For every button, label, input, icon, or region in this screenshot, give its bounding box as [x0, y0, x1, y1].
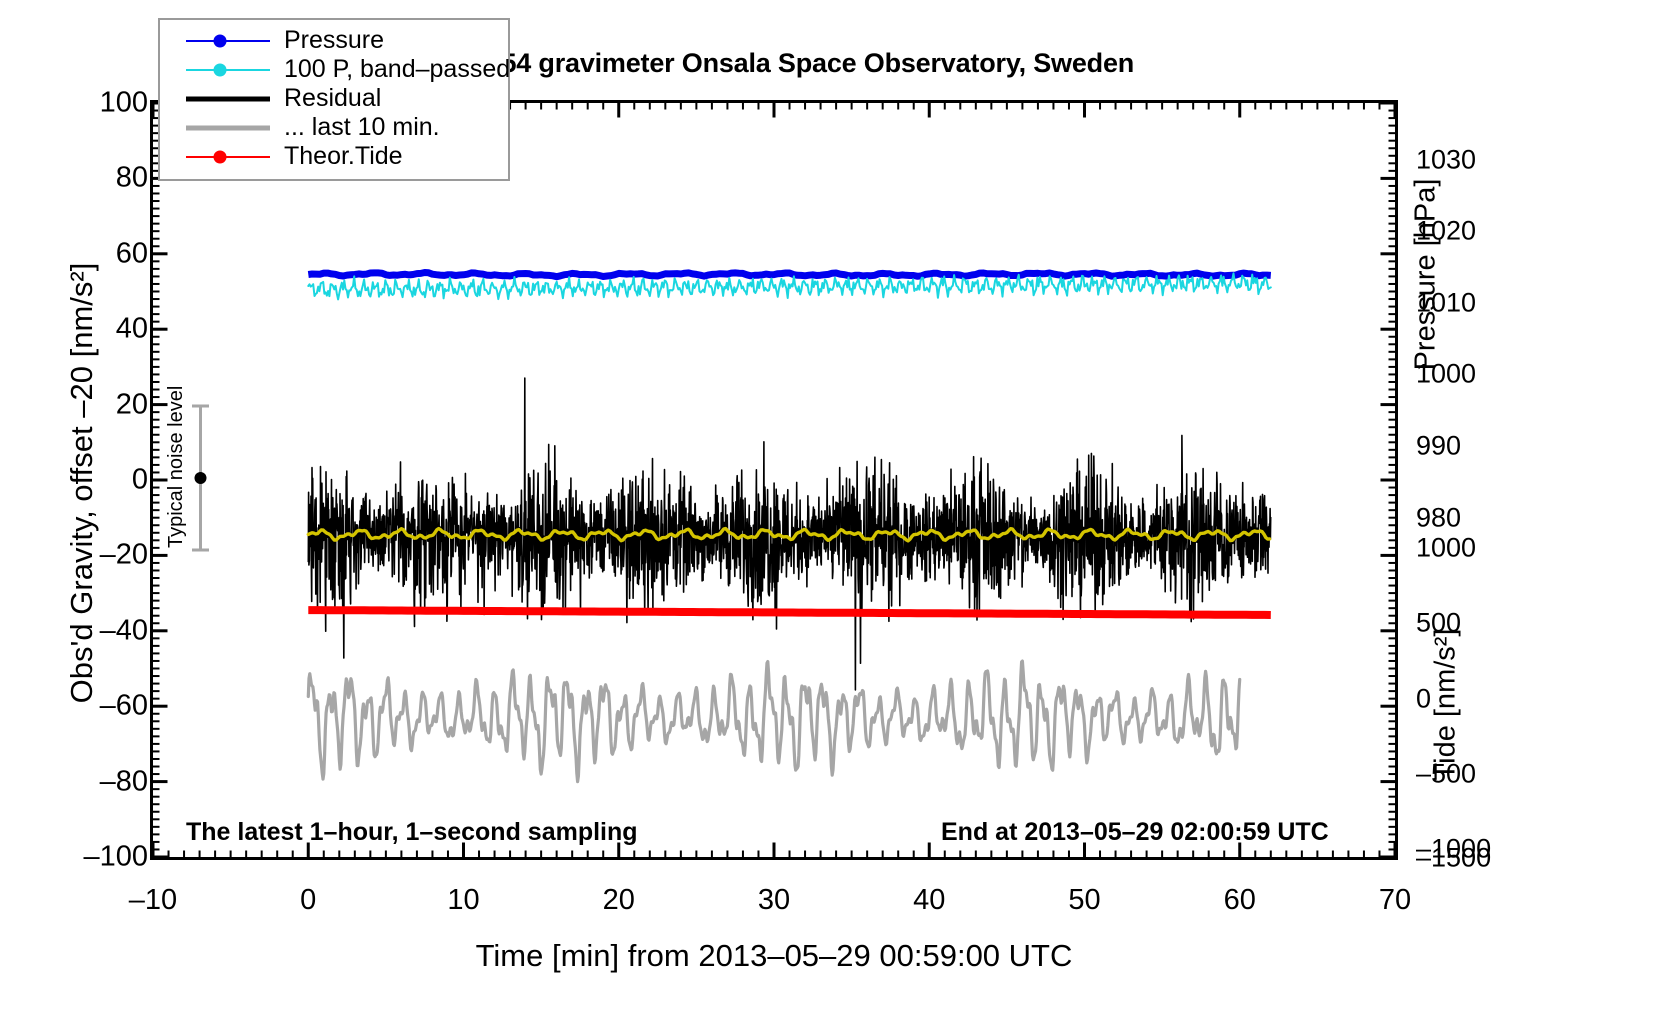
- noise-level-errorbar: [192, 404, 209, 552]
- legend-item-1[interactable]: 100 P, band–passed: [160, 55, 508, 84]
- tide-tick-label: 0: [1416, 683, 1431, 714]
- pressure-tick-label: 1020: [1416, 216, 1476, 247]
- chart-root: SCG_054 gravimeter Onsala Space Observat…: [0, 0, 1660, 1020]
- legend-label: Residual: [284, 84, 381, 113]
- x-tick-label: 20: [603, 884, 635, 917]
- x-tick-label: 40: [913, 884, 945, 917]
- legend-swatch-icon: [186, 60, 270, 80]
- y-tick-label: –20: [100, 539, 148, 572]
- plot-area: [150, 100, 1398, 860]
- y-tick-label: 80: [116, 162, 148, 195]
- legend-item-2[interactable]: Residual: [160, 84, 508, 113]
- sampling-note: The latest 1–hour, 1–second sampling: [186, 818, 638, 847]
- x-tick-label: 60: [1224, 884, 1256, 917]
- y-tick-label: 0: [132, 464, 148, 497]
- y-tick-label: –100: [83, 841, 148, 874]
- x-tick-label: –10: [129, 884, 177, 917]
- legend-label: ... last 10 min.: [284, 113, 440, 142]
- y-axis-title: Obs'd Gravity, offset –20 [nm/s²]: [64, 103, 100, 863]
- legend-swatch-icon: [186, 31, 270, 51]
- tide-tick-label: –1500: [1416, 843, 1491, 874]
- pressure-tick-label: 1000: [1416, 359, 1476, 390]
- legend-item-0[interactable]: Pressure: [160, 26, 508, 55]
- legend-swatch-icon: [186, 89, 270, 109]
- x-axis-title: Time [min] from 2013–05–29 00:59:00 UTC: [150, 938, 1398, 974]
- y-tick-label: –60: [100, 690, 148, 723]
- x-tick-label: 70: [1379, 884, 1411, 917]
- y-tick-label: –40: [100, 614, 148, 647]
- pressure-tick-label: 1030: [1416, 144, 1476, 175]
- y-tick-label: –80: [100, 765, 148, 798]
- tide-tick-label: 500: [1416, 608, 1461, 639]
- tide-tick-label: –500: [1416, 759, 1476, 790]
- x-tick-label: 10: [447, 884, 479, 917]
- series-theoretical-tide: [308, 610, 1271, 615]
- legend-swatch-icon: [186, 118, 270, 138]
- legend-label: 100 P, band–passed: [284, 55, 510, 84]
- x-tick-label: 0: [300, 884, 316, 917]
- tide-tick-label: 1000: [1416, 532, 1476, 563]
- legend-item-4[interactable]: Theor.Tide: [160, 142, 508, 171]
- legend-label: Pressure: [284, 26, 384, 55]
- legend: Pressure100 P, band–passedResidual... la…: [158, 18, 510, 181]
- y-tick-label: 100: [100, 87, 148, 120]
- legend-swatch-icon: [186, 147, 270, 167]
- pressure-tick-label: 980: [1416, 502, 1461, 533]
- pressure-tick-label: 990: [1416, 431, 1461, 462]
- x-tick-label: 50: [1068, 884, 1100, 917]
- y-tick-label: 40: [116, 313, 148, 346]
- legend-label: Theor.Tide: [284, 142, 403, 171]
- series-last-10-min: [308, 661, 1239, 782]
- plot-canvas: [153, 103, 1395, 857]
- x-tick-label: 30: [758, 884, 790, 917]
- right-axis-title-tide: Tide [nm/s²]: [1430, 545, 1463, 865]
- y-tick-label: 20: [116, 388, 148, 421]
- legend-item-3[interactable]: ... last 10 min.: [160, 113, 508, 142]
- end-time-note: End at 2013–05–29 02:00:59 UTC: [941, 818, 1329, 847]
- noise-level-label: Typical noise level: [165, 228, 188, 548]
- pressure-tick-label: 1010: [1416, 287, 1476, 318]
- series-residual: [308, 378, 1270, 690]
- series-pressure: [308, 273, 1271, 277]
- y-tick-label: 60: [116, 237, 148, 270]
